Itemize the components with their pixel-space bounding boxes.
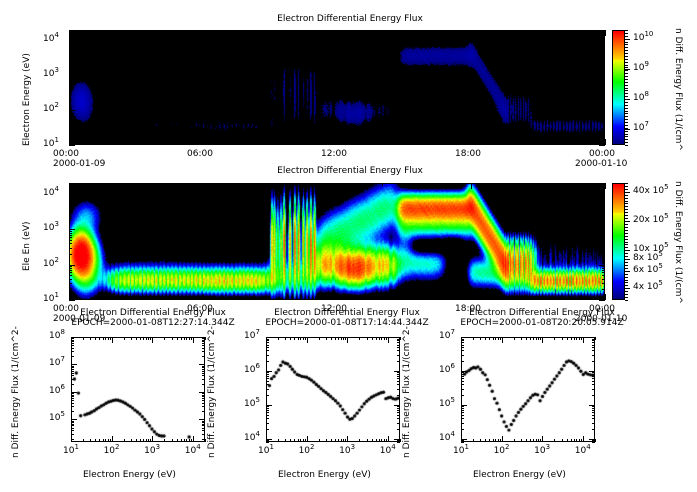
- spectrum-x-tick-label: 101: [63, 446, 79, 456]
- axis-tick: [461, 372, 464, 373]
- axis-tick: [625, 116, 628, 117]
- axis-tick: [625, 59, 628, 60]
- axis-tick: [103, 337, 104, 340]
- axis-tick: [625, 50, 628, 51]
- axis-tick: [592, 429, 595, 430]
- axis-tick: [404, 30, 405, 33]
- axis-tick: [625, 212, 628, 213]
- axis-tick: [202, 422, 205, 423]
- axis-tick: [266, 347, 269, 348]
- axis-tick: [266, 378, 269, 379]
- axis-tick: [493, 142, 494, 145]
- axis-tick: [69, 30, 70, 36]
- axis-tick: [143, 439, 144, 442]
- axis-tick: [473, 337, 474, 340]
- spectrum-3-plot[interactable]: [462, 338, 594, 441]
- axis-tick: [266, 361, 269, 362]
- axis-tick: [493, 439, 494, 442]
- axis-tick: [266, 406, 269, 407]
- axis-tick: [602, 272, 605, 273]
- axis-tick: [69, 128, 72, 129]
- axis-tick: [69, 268, 72, 269]
- axis-tick: [202, 375, 205, 376]
- colorbar-tick-label: 107: [633, 123, 649, 133]
- spectrum-y-tick-label: 107: [244, 331, 260, 341]
- axis-tick: [599, 300, 605, 301]
- axis-tick: [404, 183, 405, 186]
- axis-tick: [471, 139, 472, 145]
- axis-tick: [602, 44, 605, 45]
- axis-tick: [554, 439, 555, 442]
- axis-tick: [386, 439, 387, 442]
- axis-tick: [202, 393, 205, 394]
- axis-tick: [203, 183, 204, 189]
- axis-tick: [181, 337, 182, 340]
- axis-tick: [576, 337, 577, 340]
- axis-tick: [461, 389, 464, 390]
- axis-tick: [602, 202, 605, 203]
- spectrum-3-subtitle: EPOCH=2000-01-08T20:20:05.914Z: [447, 318, 637, 328]
- axis-tick: [292, 183, 293, 186]
- axis-tick: [270, 297, 271, 300]
- axis-tick: [202, 424, 205, 425]
- axis-tick: [602, 283, 605, 284]
- axis-tick: [266, 423, 269, 424]
- axis-tick: [343, 337, 344, 340]
- axis-tick: [99, 439, 100, 442]
- axis-tick: [449, 142, 450, 145]
- axis-tick: [625, 145, 628, 146]
- axis-tick: [461, 361, 464, 362]
- axis-tick: [592, 408, 595, 409]
- axis-tick: [493, 183, 494, 186]
- axis-tick: [602, 89, 605, 90]
- axis-tick: [625, 215, 628, 216]
- axis-tick: [426, 30, 427, 33]
- axis-tick: [592, 378, 595, 379]
- axis-tick: [359, 297, 360, 300]
- axis-tick: [69, 237, 72, 238]
- axis-tick: [602, 100, 605, 101]
- axis-tick: [146, 337, 147, 340]
- axis-tick: [625, 198, 628, 199]
- axis-tick: [202, 345, 205, 346]
- axis-tick: [625, 268, 628, 269]
- axis-tick: [583, 436, 584, 442]
- axis-tick: [583, 30, 584, 33]
- axis-tick: [69, 235, 72, 236]
- axis-tick: [69, 279, 72, 280]
- axis-tick: [554, 337, 555, 340]
- axis-tick: [91, 30, 92, 33]
- axis-tick: [140, 337, 141, 340]
- axis-tick: [136, 183, 137, 186]
- axis-tick: [583, 142, 584, 145]
- axis-tick: [560, 30, 561, 33]
- axis-tick: [579, 439, 580, 442]
- axis-tick: [625, 96, 628, 97]
- axis-tick: [345, 439, 346, 442]
- axis-tick: [146, 439, 147, 442]
- axis-tick: [625, 242, 628, 243]
- axis-tick: [461, 350, 464, 351]
- axis-tick: [337, 183, 338, 189]
- colorbar-tick-label: 109: [633, 63, 649, 73]
- axis-tick: [270, 142, 271, 145]
- axis-tick: [592, 340, 595, 341]
- axis-tick: [592, 355, 595, 356]
- axis-tick: [602, 254, 605, 255]
- axis-tick: [69, 289, 72, 290]
- axis-tick: [69, 48, 72, 49]
- axis-tick: [285, 439, 286, 442]
- axis-tick: [367, 439, 368, 442]
- axis-tick: [303, 337, 304, 340]
- axis-tick: [602, 275, 605, 276]
- spectrum-2-ylabel: n Diff. Energy Flux (1/(cm^2-: [207, 326, 217, 458]
- axis-tick: [69, 199, 72, 200]
- axis-tick: [592, 381, 595, 382]
- axis-tick: [189, 439, 190, 442]
- axis-tick: [136, 439, 137, 442]
- axis-tick: [71, 396, 74, 397]
- axis-tick: [625, 239, 628, 240]
- spectrum-3-title: Electron Differential Energy Flux: [447, 308, 637, 318]
- axis-tick: [95, 439, 96, 442]
- axis-tick: [592, 389, 595, 390]
- axis-tick: [69, 42, 72, 43]
- axis-tick: [172, 439, 173, 442]
- axis-tick: [461, 337, 462, 343]
- axis-tick: [266, 372, 269, 373]
- axis-tick: [560, 142, 561, 145]
- axis-tick: [136, 297, 137, 300]
- axis-tick: [397, 376, 400, 377]
- axis-tick: [493, 297, 494, 300]
- axis-tick: [625, 271, 628, 272]
- axis-tick: [449, 30, 450, 33]
- axis-tick: [595, 439, 596, 442]
- axis-tick: [461, 406, 464, 407]
- axis-tick: [367, 337, 368, 340]
- axis-tick: [602, 116, 605, 117]
- axis-tick: [266, 389, 269, 390]
- axis-tick: [71, 406, 74, 407]
- spectrogram-y-tick-label: 103: [43, 223, 59, 233]
- axis-tick: [143, 337, 144, 340]
- axis-tick: [602, 86, 605, 87]
- axis-tick: [114, 142, 115, 145]
- axis-tick: [625, 99, 628, 100]
- axis-tick: [489, 337, 490, 340]
- axis-tick: [181, 30, 182, 33]
- axis-tick: [71, 369, 74, 370]
- axis-tick: [502, 436, 503, 442]
- axis-tick: [461, 384, 464, 385]
- axis-tick: [225, 142, 226, 145]
- axis-tick: [71, 403, 74, 404]
- axis-tick: [114, 183, 115, 186]
- axis-tick: [625, 209, 628, 210]
- spectrum-y-tick-label: 105: [49, 413, 65, 423]
- axis-tick: [177, 337, 178, 340]
- axis-tick: [625, 294, 628, 295]
- axis-tick: [625, 70, 628, 71]
- axis-tick: [294, 337, 295, 340]
- axis-tick: [571, 439, 572, 442]
- axis-tick: [69, 135, 72, 136]
- axis-tick: [69, 240, 72, 241]
- axis-tick: [266, 408, 269, 409]
- axis-tick: [500, 337, 501, 340]
- axis-tick: [397, 374, 400, 375]
- axis-tick: [461, 374, 464, 375]
- axis-tick: [225, 183, 226, 186]
- axis-tick: [560, 297, 561, 300]
- axis-tick: [602, 279, 605, 280]
- axis-tick: [530, 337, 531, 340]
- axis-tick: [602, 42, 605, 43]
- axis-tick: [270, 183, 271, 186]
- axis-tick: [69, 208, 72, 209]
- axis-tick: [150, 439, 151, 442]
- axis-tick: [602, 51, 605, 52]
- axis-tick: [516, 297, 517, 300]
- colorbar-top-label: n Diff. Energy Flux (1/(cm^: [673, 28, 683, 151]
- axis-tick: [625, 186, 628, 187]
- axis-tick: [461, 429, 464, 430]
- spectrum-x-tick-label: 102: [104, 446, 120, 456]
- axis-tick: [71, 428, 74, 429]
- axis-tick: [112, 436, 113, 442]
- spectrogram-x-date-left: 2000-01-09: [53, 159, 105, 169]
- axis-tick: [625, 265, 628, 266]
- axis-tick: [602, 197, 605, 198]
- axis-tick: [625, 39, 628, 40]
- axis-tick: [500, 439, 501, 442]
- axis-tick: [99, 337, 100, 340]
- spectrum-x-tick-label: 102: [299, 446, 315, 456]
- axis-tick: [131, 337, 132, 340]
- axis-tick: [516, 183, 517, 186]
- axis-tick: [536, 337, 537, 340]
- axis-tick: [69, 218, 72, 219]
- axis-tick: [69, 243, 72, 244]
- axis-tick: [164, 337, 165, 340]
- axis-tick: [397, 350, 400, 351]
- axis-tick: [625, 192, 628, 193]
- axis-tick: [148, 439, 149, 442]
- axis-tick: [625, 47, 628, 48]
- axis-tick: [400, 439, 401, 442]
- axis-tick: [202, 403, 205, 404]
- axis-tick: [625, 285, 628, 286]
- axis-tick: [193, 337, 194, 343]
- axis-tick: [83, 337, 84, 340]
- spectrogram-top-image[interactable]: [70, 31, 604, 144]
- axis-tick: [69, 116, 72, 117]
- axis-tick: [71, 375, 74, 376]
- axis-tick: [602, 114, 605, 115]
- axis-tick: [581, 337, 582, 340]
- axis-tick: [592, 415, 595, 416]
- axis-tick: [602, 199, 605, 200]
- spectrogram-y-tick-label: 101: [43, 294, 59, 304]
- axis-tick: [343, 439, 344, 442]
- axis-tick: [583, 297, 584, 300]
- axis-tick: [225, 30, 226, 33]
- axis-tick: [592, 372, 595, 373]
- spectrum-x-tick-label: 104: [380, 446, 396, 456]
- axis-tick: [69, 118, 72, 119]
- axis-tick: [602, 112, 605, 113]
- axis-tick: [625, 73, 628, 74]
- axis-tick: [110, 439, 111, 442]
- axis-tick: [625, 36, 628, 37]
- axis-tick: [397, 442, 400, 443]
- axis-tick: [266, 381, 269, 382]
- axis-tick: [69, 100, 72, 101]
- axis-tick: [592, 342, 595, 343]
- axis-tick: [592, 350, 595, 351]
- axis-tick: [266, 384, 269, 385]
- axis-tick: [533, 439, 534, 442]
- axis-tick: [202, 356, 205, 357]
- axis-tick: [266, 429, 269, 430]
- axis-tick: [397, 342, 400, 343]
- axis-tick: [108, 337, 109, 340]
- axis-tick: [480, 337, 481, 340]
- axis-tick: [266, 410, 269, 411]
- axis-tick: [266, 337, 267, 343]
- axis-tick: [625, 111, 628, 112]
- axis-tick: [69, 248, 72, 249]
- axis-tick: [202, 411, 205, 412]
- axis-tick: [379, 439, 380, 442]
- axis-tick: [202, 351, 205, 352]
- spectrum-x-tick-label: 104: [575, 446, 591, 456]
- axis-tick: [103, 439, 104, 442]
- axis-tick: [202, 379, 205, 380]
- axis-tick: [516, 30, 517, 33]
- axis-tick: [359, 337, 360, 340]
- axis-tick: [602, 121, 605, 122]
- axis-tick: [337, 139, 338, 145]
- axis-tick: [495, 337, 496, 340]
- axis-tick: [461, 378, 464, 379]
- axis-tick: [602, 235, 605, 236]
- spectrum-3-xlabel: Electron Energy (eV): [473, 470, 566, 480]
- axis-tick: [397, 429, 400, 430]
- axis-tick: [625, 139, 628, 140]
- axis-tick: [69, 44, 72, 45]
- axis-tick: [202, 434, 205, 435]
- axis-tick: [602, 208, 605, 209]
- axis-tick: [625, 206, 628, 207]
- axis-tick: [71, 400, 74, 401]
- axis-tick: [602, 237, 605, 238]
- axis-tick: [184, 439, 185, 442]
- axis-tick: [186, 439, 187, 442]
- axis-tick: [516, 142, 517, 145]
- axis-tick: [625, 44, 628, 45]
- axis-tick: [69, 114, 72, 115]
- axis-tick: [266, 345, 269, 346]
- axis-tick: [202, 406, 205, 407]
- spectrum-2-plot[interactable]: [267, 338, 399, 441]
- axis-tick: [164, 439, 165, 442]
- axis-tick: [181, 183, 182, 186]
- axis-tick: [397, 423, 400, 424]
- axis-tick: [426, 297, 427, 300]
- axis-tick: [602, 289, 605, 290]
- axis-tick: [461, 412, 464, 413]
- axis-tick: [69, 139, 70, 145]
- axis-tick: [625, 56, 628, 57]
- axis-tick: [538, 337, 539, 340]
- axis-tick: [90, 337, 91, 340]
- axis-tick: [266, 374, 269, 375]
- spectrogram-x-date-right: 2000-01-10: [575, 159, 627, 169]
- axis-tick: [397, 395, 400, 396]
- axis-tick: [248, 142, 249, 145]
- spectrum-y-tick-label: 105: [439, 399, 455, 409]
- axis-tick: [498, 439, 499, 442]
- spectrum-y-tick-label: 106: [244, 365, 260, 375]
- axis-tick: [536, 439, 537, 442]
- axis-tick: [471, 30, 472, 36]
- axis-tick: [625, 256, 628, 257]
- axis-tick: [480, 439, 481, 442]
- axis-tick: [576, 439, 577, 442]
- spectrum-1-plot[interactable]: [72, 338, 204, 441]
- axis-tick: [266, 350, 269, 351]
- axis-tick: [583, 183, 584, 186]
- axis-tick: [150, 337, 151, 340]
- axis-tick: [625, 221, 628, 222]
- spectrogram-y-tick-label: 104: [43, 188, 59, 198]
- colorbar-tick-label: 40x 105: [633, 186, 669, 196]
- axis-tick: [345, 337, 346, 340]
- axis-tick: [69, 202, 72, 203]
- axis-tick: [114, 30, 115, 33]
- axis-tick: [202, 373, 205, 374]
- axis-tick: [574, 439, 575, 442]
- spectrum-y-tick-label: 104: [439, 433, 455, 443]
- axis-tick: [382, 183, 383, 186]
- spectrum-y-tick-label: 107: [49, 358, 65, 368]
- axis-tick: [625, 227, 628, 228]
- axis-tick: [625, 62, 628, 63]
- axis-tick: [625, 76, 628, 77]
- spectrum-y-tick-label: 104: [244, 433, 260, 443]
- axis-tick: [305, 439, 306, 442]
- axis-tick: [359, 439, 360, 442]
- axis-tick: [602, 135, 605, 136]
- axis-tick: [397, 408, 400, 409]
- axis-tick: [592, 374, 595, 375]
- axis-tick: [471, 294, 472, 300]
- spectrogram-middle-image[interactable]: [70, 184, 604, 299]
- axis-tick: [315, 183, 316, 186]
- axis-tick: [69, 272, 72, 273]
- axis-tick: [248, 30, 249, 33]
- axis-tick: [602, 77, 605, 78]
- spectrum-x-tick-label: 101: [258, 446, 274, 456]
- axis-tick: [533, 337, 534, 340]
- axis-tick: [502, 337, 503, 343]
- axis-tick: [397, 389, 400, 390]
